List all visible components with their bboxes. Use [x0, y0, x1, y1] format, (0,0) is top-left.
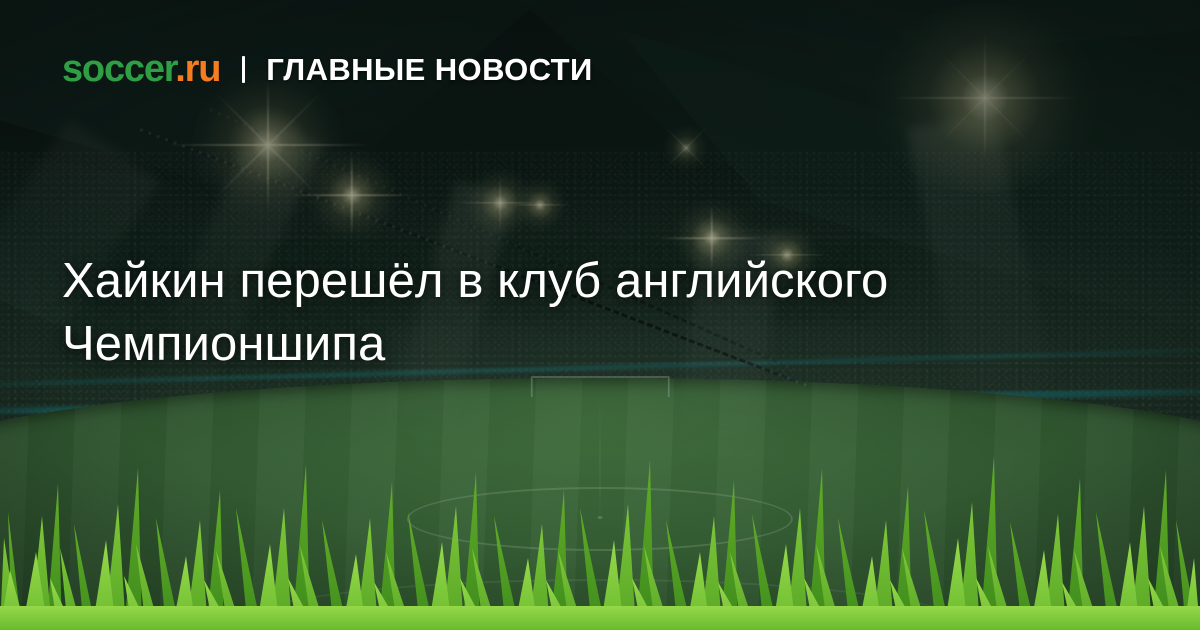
brand-separator-bar	[242, 56, 245, 83]
logo-tld-text: .ru	[175, 48, 220, 90]
card-content: soccer.ru ГЛАВНЫЕ НОВОСТИ Хайкин перешёл…	[0, 0, 1200, 630]
logo-primary-text: soccer	[62, 48, 175, 90]
article-headline: Хайкин перешёл в клуб английского Чемпио…	[62, 250, 1122, 375]
brand-bar: soccer.ru ГЛАВНЫЕ НОВОСТИ	[62, 50, 593, 88]
section-label: ГЛАВНЫЕ НОВОСТИ	[266, 54, 592, 85]
social-share-card: soccer.ru ГЛАВНЫЕ НОВОСТИ Хайкин перешёл…	[0, 0, 1200, 630]
site-logo[interactable]: soccer.ru	[62, 50, 220, 88]
